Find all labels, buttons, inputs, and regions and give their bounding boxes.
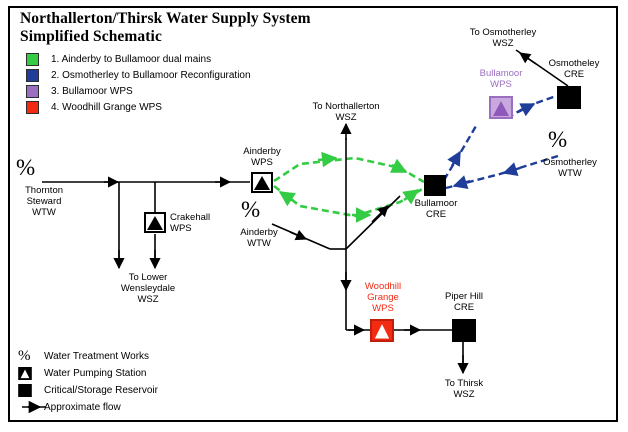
symbol-legend-item-wtw: % Water Treatment Works — [18, 348, 158, 364]
symbol-legend-label-wps: Water Pumping Station — [44, 368, 146, 379]
woodhill-grange-wps-icon — [370, 319, 394, 342]
lower-wensleydale-line-1: To Lower — [100, 272, 196, 283]
woodhill-line-3: WPS — [352, 303, 414, 314]
label-ainderby-wtw: Ainderby WTW — [228, 227, 290, 249]
bullamoor-wps-icon — [489, 96, 513, 119]
ainderby-wtw-line-1: Ainderby — [228, 227, 290, 238]
osmotherley-percent-icon: % — [548, 130, 567, 150]
symbol-legend-label-wtw: Water Treatment Works — [44, 351, 149, 362]
bullamoor-wps-line-2: WPS — [468, 79, 534, 90]
thirsk-line-2: WSZ — [432, 389, 496, 400]
ainderby-wps-line-2: WPS — [232, 157, 292, 168]
bullamoor-wps-line-1: Bullamoor — [468, 68, 534, 79]
thornton-steward-percent-icon: % — [16, 158, 35, 178]
label-osmotherley-wtw: Osmotherley WTW — [532, 157, 608, 179]
legend-item-4: 4. Woodhill Grange WPS — [26, 100, 251, 115]
node-osmotheley-cre — [557, 86, 581, 114]
lower-wensleydale-line-3: WSZ — [100, 294, 196, 305]
label-to-lower-wensleydale: To Lower Wensleydale WSZ — [100, 272, 196, 305]
crakehall-wps-icon — [144, 212, 166, 233]
color-legend: 1. Ainderby to Bullamoor dual mains 2. O… — [26, 52, 251, 116]
label-ainderby-wps: Ainderby WPS — [232, 146, 292, 168]
thornton-steward-line-3: WTW — [8, 207, 80, 218]
bullamoor-cre-line-2: CRE — [406, 209, 466, 220]
legend-label-2: 2. Osmotherley to Bullamoor Reconfigurat… — [51, 70, 251, 81]
label-to-northallerton: To Northallerton WSZ — [292, 101, 400, 123]
schematic-diagram: Northallerton/Thirsk Water Supply System… — [0, 0, 628, 432]
legend-label-3: 3. Bullamoor WPS — [51, 86, 133, 97]
thirsk-line-1: To Thirsk — [432, 378, 496, 389]
node-thornton-steward-wtw: % — [16, 158, 35, 178]
node-piper-hill-cre — [452, 319, 476, 347]
label-bullamoor-wps: Bullamoor WPS — [468, 68, 534, 90]
woodhill-line-1: Woodhill — [352, 281, 414, 292]
label-woodhill-grange-wps: Woodhill Grange WPS — [352, 281, 414, 314]
title-line-2: Simplified Schematic — [20, 28, 500, 46]
ainderby-wps-icon — [251, 172, 273, 193]
osmotheley-cre-line-1: Osmotheley — [538, 58, 610, 69]
osmotherley-wsz-line-2: WSZ — [452, 38, 554, 49]
bullamoor-cre-icon — [424, 175, 446, 196]
symbol-legend: % Water Treatment Works Water Pumping St… — [18, 348, 158, 416]
label-to-osmotherley-wsz: To Osmotherley WSZ — [452, 27, 554, 49]
node-osmotherley-wtw: % — [548, 130, 567, 150]
thornton-steward-line-2: Steward — [8, 196, 80, 207]
symbol-legend-item-wps: Water Pumping Station — [18, 365, 158, 381]
label-bullamoor-cre: Bullamoor CRE — [406, 198, 466, 220]
legend-item-1: 1. Ainderby to Bullamoor dual mains — [26, 52, 251, 67]
node-ainderby-wps — [251, 172, 273, 198]
osmotherley-wtw-line-1: Osmotherley — [532, 157, 608, 168]
percent-icon: % — [18, 350, 44, 363]
symbol-legend-label-cre: Critical/Storage Reservoir — [44, 385, 158, 396]
node-woodhill-grange-wps — [370, 319, 394, 347]
ainderby-wtw-line-2: WTW — [228, 238, 290, 249]
reservoir-icon — [18, 384, 44, 397]
diagram-title: Northallerton/Thirsk Water Supply System… — [20, 10, 500, 46]
legend-label-4: 4. Woodhill Grange WPS — [51, 102, 162, 113]
northallerton-line-1: To Northallerton — [292, 101, 400, 112]
osmotherley-wsz-line-1: To Osmotherley — [452, 27, 554, 38]
symbol-legend-item-flow: Approximate flow — [18, 399, 158, 415]
node-ainderby-wtw: % — [241, 200, 260, 220]
ainderby-wps-line-1: Ainderby — [232, 146, 292, 157]
label-to-thirsk: To Thirsk WSZ — [432, 378, 496, 400]
lower-wensleydale-line-2: Wensleydale — [100, 283, 196, 294]
label-piper-hill-cre: Piper Hill CRE — [432, 291, 496, 313]
legend-item-3: 3. Bullamoor WPS — [26, 84, 251, 99]
northallerton-line-2: WSZ — [292, 112, 400, 123]
osmotheley-cre-icon — [557, 86, 581, 109]
label-thornton-steward-wtw: Thornton Steward WTW — [8, 185, 80, 218]
legend-swatch-green — [26, 53, 39, 66]
bullamoor-cre-line-1: Bullamoor — [406, 198, 466, 209]
node-crakehall-wps — [144, 212, 166, 238]
pumping-station-icon — [18, 367, 44, 380]
woodhill-line-2: Grange — [352, 292, 414, 303]
symbol-legend-label-flow: Approximate flow — [44, 402, 121, 413]
piper-hill-line-2: CRE — [432, 302, 496, 313]
label-osmotheley-cre: Osmotheley CRE — [538, 58, 610, 80]
osmotheley-cre-line-2: CRE — [538, 69, 610, 80]
crakehall-line-1: Crakehall — [170, 212, 240, 223]
piper-hill-cre-icon — [452, 319, 476, 342]
legend-swatch-blue — [26, 69, 39, 82]
osmotherley-wtw-line-2: WTW — [532, 168, 608, 179]
legend-swatch-red — [26, 101, 39, 114]
legend-swatch-purple — [26, 85, 39, 98]
piper-hill-line-1: Piper Hill — [432, 291, 496, 302]
node-bullamoor-wps — [489, 96, 513, 124]
ainderby-percent-icon: % — [241, 200, 260, 220]
legend-label-1: 1. Ainderby to Bullamoor dual mains — [51, 54, 211, 65]
thornton-steward-line-1: Thornton — [8, 185, 80, 196]
symbol-legend-item-cre: Critical/Storage Reservoir — [18, 382, 158, 398]
legend-item-2: 2. Osmotherley to Bullamoor Reconfigurat… — [26, 68, 251, 83]
title-line-1: Northallerton/Thirsk Water Supply System — [20, 10, 500, 28]
